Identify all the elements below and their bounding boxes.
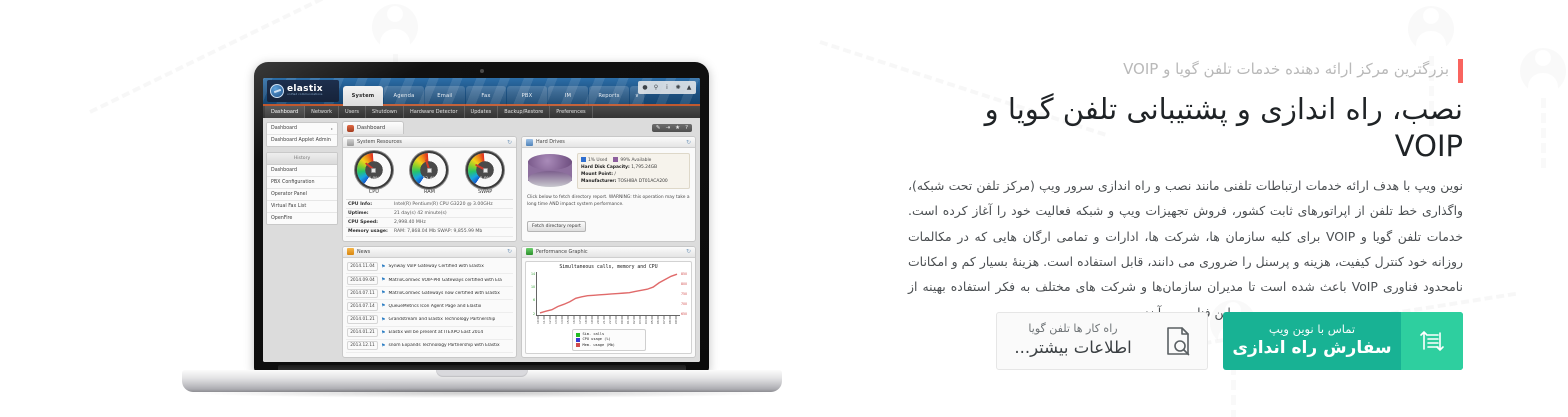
gauge-value: 0.0% <box>468 177 502 182</box>
network-icon[interactable]: ✺ <box>673 82 683 93</box>
panel-header: Hard Drives ↻ <box>522 137 695 148</box>
sidebar-item-dashboard-applet-admin[interactable]: Dashboard Applet Admin <box>267 135 337 146</box>
list-item[interactable]: 2014.11.04⚑Synway VoIP Gateway Certified… <box>346 261 513 274</box>
y-tick: 800 <box>680 282 689 286</box>
info-key: CPU Info: <box>348 202 394 207</box>
page-title: Dashboard <box>357 125 385 131</box>
y-tick: 2 <box>528 312 536 316</box>
sidebar-item-label: Dashboard <box>271 126 297 131</box>
sidebar-primary-group: Dashboard ▸ Dashboard Applet Admin <box>266 122 338 147</box>
star-icon[interactable]: ★ <box>675 125 680 131</box>
panel-content: 4.0% CPU 12.4% <box>343 148 516 241</box>
gauge-ram: 12.4% RAM <box>412 153 446 195</box>
detail-key: Hard Disk Capacity: <box>581 165 630 170</box>
chart-x-axis: 10:0011:0012:0013:0014:0015:0016:0017:00… <box>536 316 680 327</box>
fetch-directory-report-button[interactable]: Fetch directory report <box>527 221 586 232</box>
tab-system[interactable]: System <box>343 86 383 106</box>
sidebar-history-openfire[interactable]: OpenFire <box>267 213 337 224</box>
info-value: Intel(R) Pentium(R) CPU G3220 @ 3.00GHz <box>394 202 493 207</box>
watermark-person-icon <box>1520 48 1566 168</box>
laptop-shadow <box>192 388 772 398</box>
cta-secondary-big-label: اطلاعات بیشتر... <box>1014 337 1131 359</box>
panel-title: Hard Drives <box>536 139 683 145</box>
sidebar-history-virtual-fax-list[interactable]: Virtual Fax List <box>267 201 337 213</box>
sidebar-history-operator-panel[interactable]: Operator Panel <box>267 189 337 201</box>
detail-key: Manufacturer: <box>581 179 616 184</box>
info-icon[interactable]: i <box>662 82 672 93</box>
list-item[interactable]: 2014.07.14⚑QueueMetrics Icon Agent Page … <box>346 300 513 313</box>
list-item[interactable]: 2014.07.11⚑MatrixComSec Gateways now cer… <box>346 287 513 300</box>
sidebar-history-dashboard[interactable]: Dashboard <box>267 165 337 177</box>
news-title[interactable]: MatrixComSec VOIP-PRI Gateways certified… <box>388 278 501 283</box>
panel-title: News <box>357 249 504 255</box>
y-tick: 14 <box>528 272 536 276</box>
panel-news: News ↻ 2014.11.04⚑Synway VoIP Gateway Ce… <box>342 246 517 358</box>
flag-icon: ⚑ <box>381 277 385 283</box>
system-info-table: CPU Info: Intel(R) Pentium(R) CPU G3220 … <box>346 199 513 237</box>
disk-legend: 1% Used 99% Available <box>581 157 686 163</box>
list-item[interactable]: 2014.09.04⚑MatrixComSec VOIP-PRI Gateway… <box>346 274 513 287</box>
tab-reports[interactable]: Reports <box>589 86 629 106</box>
y-tick: 700 <box>680 302 689 306</box>
sidebar-history-group: History Dashboard PBX Configuration Oper… <box>266 152 338 225</box>
subnav-updates[interactable]: Updates <box>465 106 499 118</box>
news-title[interactable]: Elastix will be present at ITEXPO East 2… <box>388 330 483 335</box>
refresh-icon[interactable]: ↻ <box>507 248 512 255</box>
detail-value: 1,795.24GB <box>631 165 657 170</box>
news-title[interactable]: MatrixComSec Gateways now certified with… <box>388 291 499 296</box>
hero-eyebrow: بزرگترین مرکز ارائه دهنده خدمات تلفن گوی… <box>908 58 1463 81</box>
disk-cylinder-icon <box>528 154 572 188</box>
chart-plot: 14 10 6 2 850 <box>528 272 689 316</box>
page-title: نصب، راه اندازی و پشتیبانی تلفن گویا و V… <box>908 91 1463 165</box>
order-arrows-icon <box>1401 312 1463 370</box>
info-key: Memory usage: <box>348 229 394 234</box>
panel-performance-graphic: Performance Graphic ↻ Simultaneous calls… <box>521 246 696 358</box>
document-search-icon <box>1149 313 1207 369</box>
memory-usage-line <box>537 272 680 315</box>
gauge-value: 4.0% <box>357 177 391 182</box>
cta-secondary-small-label: راه کار ها تلفن گویا <box>1028 322 1117 337</box>
detail-key: Mount Point: <box>581 172 613 177</box>
cpu-dial-icon: 4.0% <box>357 153 391 187</box>
list-item[interactable]: 2014.01.21⚑Grandstream and Elastix Techn… <box>346 313 513 326</box>
table-row: CPU Speed: 2,998.40 MHz <box>346 218 513 227</box>
news-title[interactable]: snom Expands Technology Partnership with… <box>388 343 499 348</box>
gauge-cpu: 4.0% CPU <box>357 153 391 195</box>
x-tick: 09:00 <box>674 316 680 327</box>
flag-icon: ⚑ <box>381 317 385 323</box>
flag-icon: ⚑ <box>381 330 385 336</box>
order-setup-button[interactable]: تماس با نوین ویپ سفارش راه اندازی <box>1223 312 1463 370</box>
elastix-subnav[interactable]: Dashboard Network Users Shutdown Hardwar… <box>263 106 700 118</box>
help-icon[interactable]: ? <box>685 125 688 131</box>
news-date: 2014.09.04 <box>347 276 378 285</box>
brand-tagline: unified communications <box>287 94 323 97</box>
info-key: CPU Speed: <box>348 220 394 225</box>
flag-icon: ⚑ <box>381 303 385 309</box>
disk-detail-row: Mount Point: / <box>581 172 686 179</box>
legend-label: 1% Used <box>588 158 607 163</box>
news-date: 2013.12.11 <box>347 341 378 350</box>
sidebar-item-dashboard[interactable]: Dashboard ▸ <box>267 123 337 135</box>
sidebar-item-label: OpenFire <box>271 216 292 221</box>
hero-paragraph: نوین ویپ با هدف ارائه خدمات ارتباطات تلف… <box>908 173 1463 326</box>
search-icon[interactable]: ⚲ <box>651 82 661 93</box>
swap-dial-icon: 0.0% <box>468 153 502 187</box>
tab-pbx[interactable]: PBX <box>507 86 547 106</box>
webcam-icon <box>480 69 484 73</box>
chart-title: Simultaneous calls, memory and CPU <box>528 265 689 270</box>
flag-icon: ⚑ <box>381 343 385 349</box>
refresh-icon[interactable]: ↻ <box>686 139 691 146</box>
news-date: 2014.01.21 <box>347 315 378 324</box>
elastix-mark-icon <box>270 84 284 98</box>
cta-row: تماس با نوین ویپ سفارش راه اندازی راه کا… <box>996 312 1463 370</box>
y-tick: 750 <box>680 292 689 296</box>
news-title[interactable]: Synway VoIP Gateway Certified with Elast… <box>388 264 483 269</box>
table-row: CPU Info: Intel(R) Pentium(R) CPU G3220 … <box>346 200 513 209</box>
news-title[interactable]: Grandstream and Elastix Technology Partn… <box>388 317 495 322</box>
subnav-shutdown[interactable]: Shutdown <box>366 106 404 118</box>
chart-legend: Sim. calls CPU usage (%) Mem. usage (Mb) <box>572 329 646 351</box>
cta-primary-big-label: سفارش راه اندازی <box>1232 337 1391 360</box>
flag-icon: ⚑ <box>381 290 385 296</box>
sidebar-item-label: Dashboard <box>271 168 297 173</box>
detail-value: / <box>614 172 615 177</box>
main-tabs[interactable]: System Agenda Email Fax PBX IM Reports ∨ <box>343 86 644 106</box>
performance-chart: Simultaneous calls, memory and CPU 14 10… <box>525 261 692 354</box>
elastix-application: elastix unified communications System Ag… <box>263 78 700 362</box>
y-tick: 10 <box>528 285 536 289</box>
panel-title: System Resources <box>357 139 504 145</box>
ram-dial-icon: 12.4% <box>412 153 446 187</box>
harddrive-icon <box>526 139 533 146</box>
tab-fax[interactable]: Fax <box>466 86 506 106</box>
detail-value: TOSHIBA DT01ACA200 <box>618 179 668 184</box>
page-tab-dashboard[interactable]: Dashboard <box>342 121 404 134</box>
legend-label: Mem. usage (Mb) <box>583 343 615 348</box>
sidebar-item-label: PBX Configuration <box>271 180 315 185</box>
gauge-value: 12.4% <box>412 177 446 182</box>
legend-entry: Mem. usage (Mb) <box>576 343 642 348</box>
legend-available: 99% Available <box>613 157 651 163</box>
info-value: RAM: 7,868.04 Mb SWAP: 9,855.99 Mb <box>394 229 482 234</box>
list-item[interactable]: 2013.12.11⚑snom Expands Technology Partn… <box>346 340 513 353</box>
disk-detail-row: Hard Disk Capacity: 1,795.24GB <box>581 165 686 172</box>
collapse-icon[interactable]: ⇥ <box>666 125 671 131</box>
chart-icon <box>526 248 533 255</box>
disk-info-box: 1% Used 99% Available Hard Disk Capacity… <box>577 153 690 189</box>
subnav-preferences[interactable]: Preferences <box>550 106 592 118</box>
topbar-tool-icons[interactable]: ● ⚲ i ✺ ▲ <box>638 81 696 94</box>
subnav-backup-restore[interactable]: Backup/Restore <box>498 106 550 118</box>
subnav-hardware-detector[interactable]: Hardware Detector <box>404 106 465 118</box>
news-title[interactable]: QueueMetrics Icon Agent Page and Elastix <box>388 304 481 309</box>
news-date: 2014.07.14 <box>347 302 378 311</box>
elastix-sidebar: Dashboard ▸ Dashboard Applet Admin Histo… <box>263 118 341 362</box>
sidebar-history-title: History <box>267 153 337 165</box>
flag-icon: ⚑ <box>381 264 385 270</box>
chevron-right-icon: ▸ <box>331 126 333 131</box>
refresh-icon[interactable]: ↻ <box>507 139 512 146</box>
dashboard-grid: System Resources ↻ <box>342 136 696 358</box>
gauge-label: RAM <box>412 189 446 195</box>
resource-gauges: 4.0% CPU 12.4% <box>346 151 513 195</box>
elastix-content: Dashboard ✎ ⇥ ★ ? <box>341 118 700 362</box>
chart-y-axis-right: 850 800 750 700 650 <box>680 272 689 316</box>
chart-bars <box>536 272 680 316</box>
elastix-body: Dashboard ▸ Dashboard Applet Admin Histo… <box>263 118 700 362</box>
refresh-icon[interactable]: ↻ <box>686 248 691 255</box>
resources-icon <box>347 139 354 146</box>
legend-label: 99% Available <box>620 158 651 163</box>
more-info-button[interactable]: راه کار ها تلفن گویا اطلاعات بیشتر... <box>996 312 1208 370</box>
panel-hard-drives: Hard Drives ↻ <box>521 136 696 242</box>
panel-header: News ↻ <box>343 247 516 258</box>
sidebar-item-label: Dashboard Applet Admin <box>271 138 331 143</box>
panel-content: Simultaneous calls, memory and CPU 14 10… <box>522 258 695 357</box>
laptop-lid: elastix unified communications System Ag… <box>254 62 709 372</box>
panel-title: Performance Graphic <box>536 249 683 255</box>
table-row: Uptime: 21 day(s) 42 minute(s) <box>346 209 513 218</box>
y-tick: 850 <box>680 272 689 276</box>
laptop-screen: elastix unified communications System Ag… <box>263 78 700 362</box>
rss-icon <box>347 248 354 255</box>
gauge-label: SWAP <box>468 189 502 195</box>
info-value: 21 day(s) 42 minute(s) <box>394 211 447 216</box>
disk-detail-row: Manufacturer: TOSHIBA DT01ACA200 <box>581 179 686 186</box>
legend-used: 1% Used <box>581 157 607 163</box>
subnav-users[interactable]: Users <box>339 106 366 118</box>
disk-chart <box>527 153 573 189</box>
cta-primary-small-label: تماس با نوین ویپ <box>1269 322 1355 338</box>
panel-content: 1% Used 99% Available Hard Disk Capacity… <box>522 148 695 241</box>
elastix-topbar: elastix unified communications System Ag… <box>263 78 700 106</box>
subnav-dashboard[interactable]: Dashboard <box>265 106 305 118</box>
sidebar-item-label: Virtual Fax List <box>271 204 306 209</box>
subnav-network[interactable]: Network <box>305 106 339 118</box>
laptop-mockup: elastix unified communications System Ag… <box>182 62 782 392</box>
panel-header: Performance Graphic ↻ <box>522 247 695 258</box>
edit-icon[interactable]: ✎ <box>656 125 661 131</box>
y-tick: 650 <box>680 312 689 316</box>
user-icon[interactable]: ▲ <box>684 82 694 93</box>
tab-agenda[interactable]: Agenda <box>384 86 424 106</box>
sidebar-item-label: Operator Panel <box>271 192 307 197</box>
info-value: 2,998.40 MHz <box>394 220 426 225</box>
news-date: 2014.07.11 <box>347 289 378 298</box>
panel-content: 2014.11.04⚑Synway VoIP Gateway Certified… <box>343 258 516 357</box>
y-tick: 6 <box>528 298 536 302</box>
drop-icon[interactable]: ● <box>640 82 650 93</box>
news-date: 2014.01.21 <box>347 328 378 337</box>
list-item[interactable]: 2014.01.21⚑Elastix will be present at IT… <box>346 327 513 340</box>
info-key: Uptime: <box>348 211 394 216</box>
dashboard-icon <box>347 125 354 132</box>
panel-system-resources: System Resources ↻ <box>342 136 517 242</box>
gauge-label: CPU <box>357 189 391 195</box>
fetch-warning-text: Click below to fetch directory report. W… <box>527 195 690 208</box>
gauge-swap: 0.0% SWAP <box>468 153 502 195</box>
table-row: Memory usage: RAM: 7,868.04 Mb SWAP: 9,8… <box>346 228 513 237</box>
tab-email[interactable]: Email <box>425 86 465 106</box>
hero-text-block: بزرگترین مرکز ارائه دهنده خدمات تلفن گوی… <box>908 58 1463 325</box>
sidebar-history-pbx-configuration[interactable]: PBX Configuration <box>267 177 337 189</box>
news-date: 2014.11.04 <box>347 262 378 271</box>
tab-im[interactable]: IM <box>548 86 588 106</box>
panel-header: System Resources ↻ <box>343 137 516 148</box>
elastix-logo: elastix unified communications <box>267 80 339 102</box>
chart-y-axis-left: 14 10 6 2 <box>528 272 536 316</box>
